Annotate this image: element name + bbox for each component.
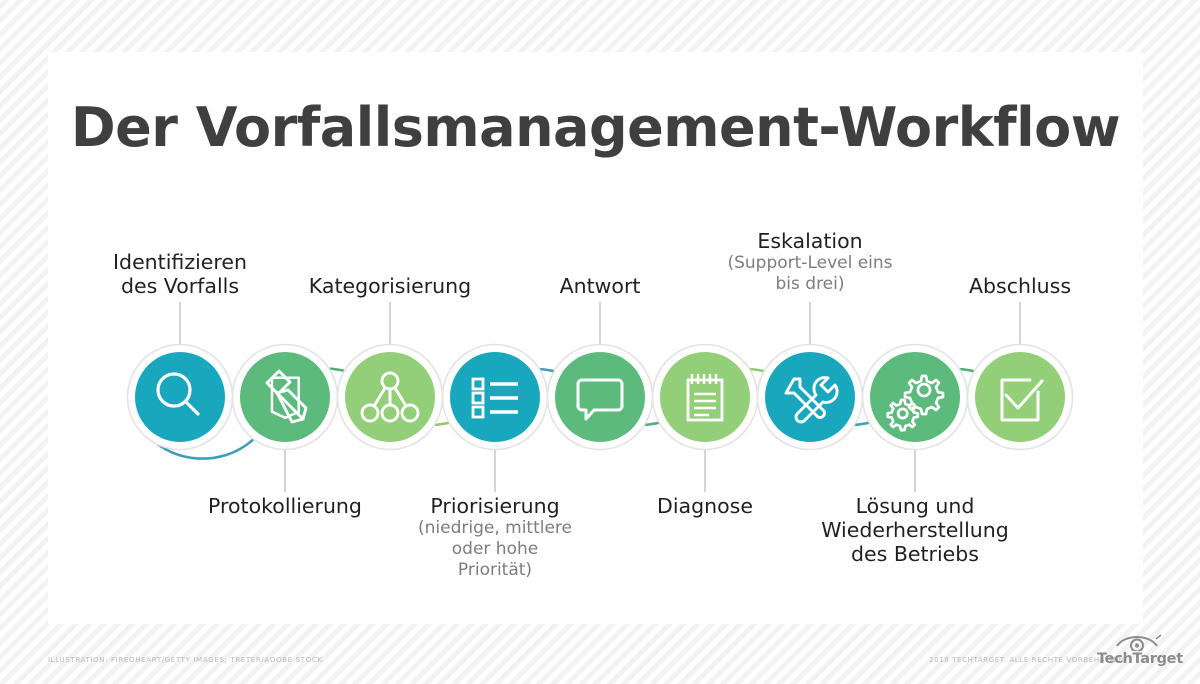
techtarget-logo: TechTarget — [1097, 634, 1193, 668]
step-label-4-sub1: (niedrige, mittlere — [395, 518, 595, 539]
step-label-6: Diagnose — [605, 494, 805, 518]
step-node-7[interactable] — [758, 345, 863, 450]
step-label-2: Protokollierung — [185, 494, 385, 518]
step-label-4-sub2: oder hohe — [395, 539, 595, 560]
step-label-5: Antwort — [500, 274, 700, 298]
step-disc-6 — [660, 352, 750, 442]
step-label-5-line1: Antwort — [560, 274, 641, 298]
step-label-7-sub2: bis drei) — [710, 274, 910, 295]
step-label-7-sub1: (Support-Level eins — [710, 253, 910, 274]
step-disc-1 — [135, 352, 225, 442]
step-disc-5 — [555, 352, 645, 442]
step-disc-2 — [240, 352, 330, 442]
step-node-9[interactable] — [968, 345, 1073, 450]
step-label-2-line1: Protokollierung — [208, 494, 362, 518]
illustration-credit: ILLUSTRATION: FIREOHEART/GETTY IMAGES; T… — [48, 655, 323, 664]
techtarget-logo-text: TechTarget — [1097, 651, 1183, 667]
step-node-4[interactable] — [443, 345, 548, 450]
eye-icon — [1109, 633, 1200, 651]
step-node-6[interactable] — [653, 345, 758, 450]
step-node-1[interactable] — [128, 345, 233, 450]
step-disc-9 — [975, 352, 1065, 442]
step-label-1: Identifizieren des Vorfalls — [80, 250, 280, 298]
step-label-8-line3: des Betriebs — [851, 542, 979, 566]
step-label-7-line1: Eskalation — [757, 229, 862, 253]
step-node-8[interactable] — [863, 345, 968, 450]
step-label-6-line1: Diagnose — [657, 494, 753, 518]
step-label-3-line1: Kategorisierung — [309, 274, 471, 298]
step-label-8-line2: Wiederherstellung — [821, 518, 1009, 542]
step-node-2[interactable] — [233, 345, 338, 450]
step-label-1-line1: Identifizieren — [113, 250, 247, 274]
step-label-4-sub3: Priorität) — [395, 560, 595, 581]
step-label-4-line1: Priorisierung — [430, 494, 559, 518]
step-label-1-line2: des Vorfalls — [121, 274, 239, 298]
step-node-5[interactable] — [548, 345, 653, 450]
step-disc-8 — [870, 352, 960, 442]
step-label-8: Lösung und Wiederherstellung des Betrieb… — [815, 494, 1015, 566]
workflow-diagram: Identifizieren des Vorfalls Kategorisier… — [48, 52, 1143, 624]
step-node-3[interactable] — [338, 345, 443, 450]
step-label-8-line1: Lösung und — [856, 494, 975, 518]
step-label-4: Priorisierung (niedrige, mittlere oder h… — [395, 494, 595, 581]
infographic-card: Der Vorfallsmanagement-Workflow — [48, 52, 1143, 624]
step-label-9-line1: Abschluss — [969, 274, 1071, 298]
step-label-3: Kategorisierung — [290, 274, 490, 298]
step-label-7: Eskalation (Support-Level eins bis drei) — [710, 229, 910, 295]
step-label-9: Abschluss — [920, 274, 1120, 298]
